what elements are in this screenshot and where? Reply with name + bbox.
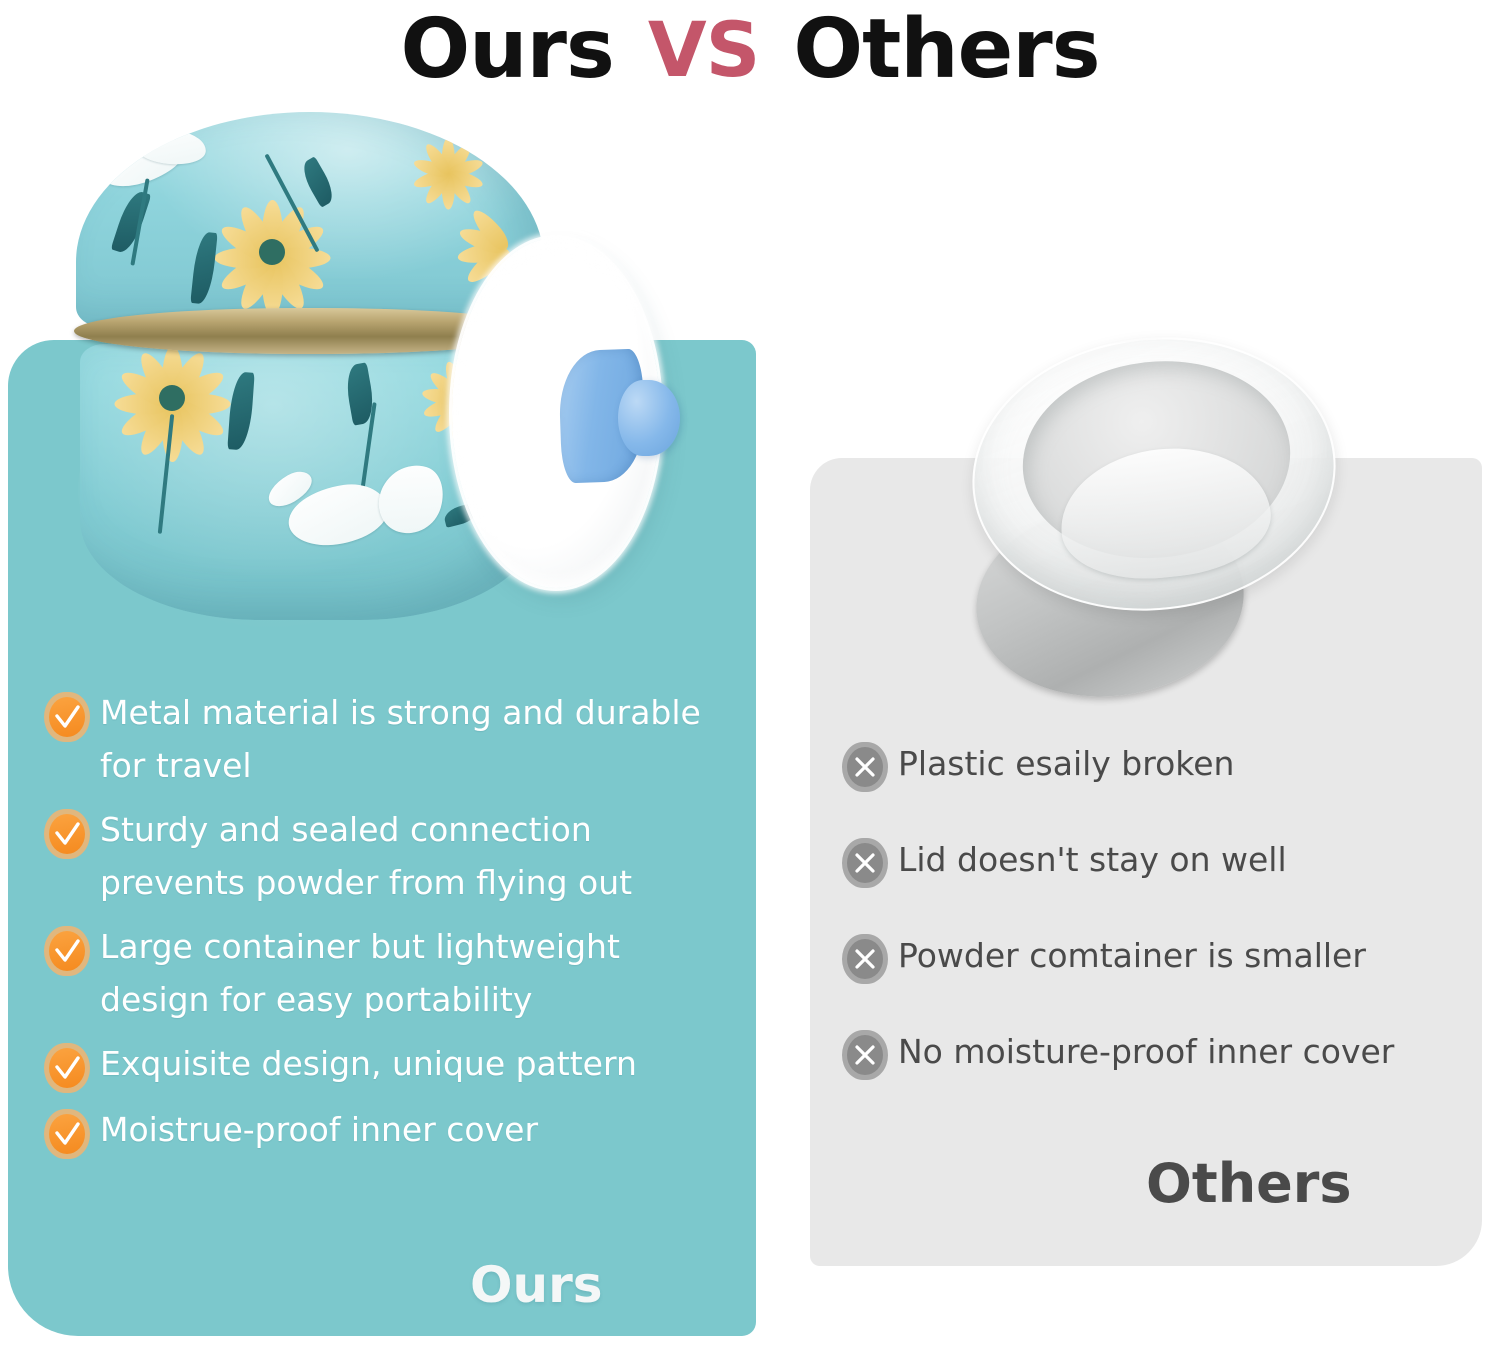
powder-puff [452,238,684,588]
ours-panel-label: Ours [470,1256,603,1314]
title-others: Others [793,9,1099,91]
list-item-label: Exquisite design, unique pattern [100,1037,637,1090]
list-item: Sturdy and sealed connection prevents po… [44,803,734,910]
check-icon [44,692,90,742]
list-item-label: Sturdy and sealed connection prevents po… [100,803,720,910]
check-icon [44,809,90,859]
list-item-label: Large container but lightweight design f… [100,920,720,1027]
list-item: No moisture-proof inner cover [842,1024,1472,1080]
others-product-image [952,330,1352,702]
check-icon [44,1043,90,1093]
title-vs: VS [648,12,760,88]
ours-feature-list: Metal material is strong and durable for… [44,686,734,1169]
list-item-label: No moisture-proof inner cover [898,1031,1394,1072]
list-item: Lid doesn't stay on well [842,832,1472,888]
x-icon [842,934,888,984]
x-icon [842,1030,888,1080]
list-item-label: Metal material is strong and durable for… [100,686,720,793]
list-item-label: Powder comtainer is smaller [898,935,1366,976]
list-item: Exquisite design, unique pattern [44,1037,734,1093]
others-drawback-list: Plastic esaily broken Lid doesn't stay o… [842,736,1472,1120]
x-icon [842,838,888,888]
comparison-title: Ours VS Others [0,2,1500,98]
list-item: Large container but lightweight design f… [44,920,734,1027]
x-icon [842,742,888,792]
list-item: Moistrue-proof inner cover [44,1103,734,1159]
list-item-label: Plastic esaily broken [898,743,1234,784]
list-item-label: Moistrue-proof inner cover [100,1103,538,1156]
puff-handle [560,342,688,490]
check-icon [44,926,90,976]
list-item-label: Lid doesn't stay on well [898,839,1287,880]
list-item: Metal material is strong and durable for… [44,686,734,793]
title-ours: Ours [400,9,613,91]
list-item: Powder comtainer is smaller [842,928,1472,984]
check-icon [44,1109,90,1159]
others-panel-label: Others [1146,1152,1352,1215]
list-item: Plastic esaily broken [842,736,1472,792]
